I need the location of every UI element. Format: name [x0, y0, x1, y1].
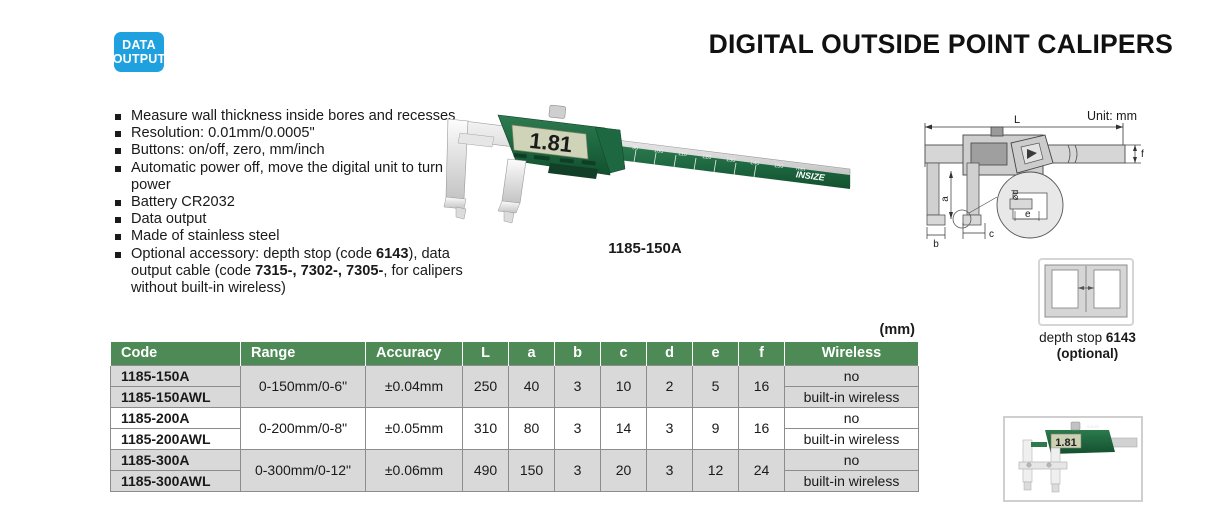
table-row: 1185-200A 0-200mm/0-8" ±0.05mm 310 80 3 …: [111, 407, 919, 428]
bullet-square-icon: [115, 131, 121, 137]
cell-d: 3: [647, 407, 693, 449]
dimension-label-b: b: [933, 239, 939, 250]
svg-text:120: 120: [702, 154, 712, 161]
data-output-badge: DATA OUTPUT: [114, 32, 164, 72]
page-title: DIGITAL OUTSIDE POINT CALIPERS: [709, 29, 1173, 60]
cell-c: 14: [601, 407, 647, 449]
column-header-l: L: [463, 342, 509, 365]
accessory-code-cables: 7315-, 7302-, 7305-: [255, 263, 383, 279]
bullet-square-icon: [115, 217, 121, 223]
cell-b: 3: [555, 365, 601, 407]
feature-text: Battery CR2032: [131, 194, 235, 210]
svg-text:150: 150: [774, 163, 784, 170]
table-row: 1185-300A 0-300mm/0-12" ±0.06mm 490 150 …: [111, 449, 919, 470]
cell-accuracy: ±0.05mm: [366, 407, 463, 449]
bullet-square-icon: [115, 166, 121, 172]
dimension-label-c: c: [989, 229, 994, 240]
svg-text:110: 110: [678, 151, 687, 158]
dimension-label-e: e: [1025, 209, 1031, 220]
depth-stop-diagram: [1038, 258, 1134, 326]
depth-stop-caption: depth stop 6143 (optional): [995, 330, 1180, 361]
feature-text: Buttons: on/off, zero, mm/inch: [131, 142, 325, 158]
feature-text: Automatic power off, move the digital un…: [131, 160, 463, 193]
cell-wireless: built-in wireless: [785, 470, 919, 491]
cell-wireless: built-in wireless: [785, 386, 919, 407]
cell-wireless: no: [785, 407, 919, 428]
cell-code: 1185-150AWL: [111, 386, 241, 407]
dimension-label-f: f: [1141, 149, 1144, 160]
spec-table: Code Range Accuracy L a b c d e f Wirele…: [110, 342, 915, 492]
cell-code: 1185-300A: [111, 449, 241, 470]
svg-text:INSIZE: INSIZE: [1087, 424, 1100, 429]
list-item: Resolution: 0.01mm/0.0005": [114, 125, 464, 142]
cell-l: 490: [463, 449, 509, 491]
dimension-label-d: ⌀d: [1010, 190, 1020, 200]
svg-text:90: 90: [632, 145, 639, 152]
cell-d: 3: [647, 449, 693, 491]
svg-text:100: 100: [654, 148, 664, 155]
unit-note: (mm): [820, 322, 915, 338]
bullet-square-icon: [115, 148, 121, 154]
cell-wireless: no: [785, 449, 919, 470]
cell-range: 0-300mm/0-12": [241, 449, 366, 491]
technical-drawing: L f: [905, 105, 1217, 253]
bullet-square-icon: [115, 234, 121, 240]
column-header-a: a: [509, 342, 555, 365]
cell-a: 150: [509, 449, 555, 491]
cell-code: 1185-150A: [111, 365, 241, 386]
column-header-e: e: [693, 342, 739, 365]
cell-a: 80: [509, 407, 555, 449]
cell-e: 12: [693, 449, 739, 491]
column-header-f: f: [739, 342, 785, 365]
list-item: Automatic power off, move the digital un…: [114, 160, 464, 194]
svg-text:1.81: 1.81: [528, 128, 573, 157]
column-header-accuracy: Accuracy: [366, 342, 463, 365]
feature-list: Measure wall thickness inside bores and …: [114, 108, 464, 297]
cell-range: 0-200mm/0-8": [241, 407, 366, 449]
cell-c: 10: [601, 365, 647, 407]
product-caption: 1185-150A: [420, 240, 870, 257]
list-item: Measure wall thickness inside bores and …: [114, 108, 464, 125]
cell-f: 24: [739, 449, 785, 491]
cell-f: 16: [739, 407, 785, 449]
product-photo-main: 80 90 100 110 120 130 140 150 mm INSIZE …: [420, 103, 870, 231]
accessory-code-depth-stop: 6143: [376, 246, 408, 262]
badge-line-1: DATA: [122, 38, 156, 52]
column-header-range: Range: [241, 342, 366, 365]
cell-code: 1185-300AWL: [111, 470, 241, 491]
column-header-code: Code: [111, 342, 241, 365]
list-item-optional-accessory: Optional accessory: depth stop (code 614…: [114, 246, 464, 298]
depth-stop-photo: 1.81 INSIZE: [1003, 416, 1143, 502]
cell-b: 3: [555, 407, 601, 449]
cell-a: 40: [509, 365, 555, 407]
table-header-row: Code Range Accuracy L a b c d e f Wirele…: [111, 342, 919, 365]
cell-d: 2: [647, 365, 693, 407]
svg-text:140: 140: [750, 160, 760, 167]
depth-stop-optional: (optional): [1057, 346, 1118, 361]
depth-stop-label: depth stop: [1039, 330, 1106, 345]
cell-c: 20: [601, 449, 647, 491]
column-header-d: d: [647, 342, 693, 365]
bullet-square-icon: [115, 252, 121, 258]
drawing-unit-label: Unit: mm: [1087, 109, 1137, 123]
feature-text: Resolution: 0.01mm/0.0005": [131, 125, 315, 141]
depth-stop-code: 6143: [1106, 330, 1136, 345]
column-header-c: c: [601, 342, 647, 365]
table-row: 1185-150A 0-150mm/0-6" ±0.04mm 250 40 3 …: [111, 365, 919, 386]
cell-accuracy: ±0.04mm: [366, 365, 463, 407]
feature-text: Data output: [131, 211, 206, 227]
list-item: Buttons: on/off, zero, mm/inch: [114, 142, 464, 159]
cell-l: 250: [463, 365, 509, 407]
cell-wireless: built-in wireless: [785, 428, 919, 449]
cell-wireless: no: [785, 365, 919, 386]
cell-e: 5: [693, 365, 739, 407]
column-header-b: b: [555, 342, 601, 365]
badge-line-2: OUTPUT: [113, 52, 166, 66]
list-item: Data output: [114, 211, 464, 228]
cell-range: 0-150mm/0-6": [241, 365, 366, 407]
catalog-page: DATA OUTPUT DIGITAL OUTSIDE POINT CALIPE…: [0, 0, 1219, 531]
feature-text: Made of stainless steel: [131, 228, 279, 244]
dimension-label-L: L: [1014, 114, 1020, 126]
feature-text: Measure wall thickness inside bores and …: [131, 108, 455, 124]
dimension-label-a: a: [940, 196, 951, 202]
cell-accuracy: ±0.06mm: [366, 449, 463, 491]
svg-text:130: 130: [726, 157, 736, 164]
cell-f: 16: [739, 365, 785, 407]
cell-code: 1185-200A: [111, 407, 241, 428]
list-item: Battery CR2032: [114, 194, 464, 211]
bullet-square-icon: [115, 200, 121, 206]
cell-e: 9: [693, 407, 739, 449]
cell-b: 3: [555, 449, 601, 491]
list-item: Made of stainless steel: [114, 228, 464, 245]
column-header-wireless: Wireless: [785, 342, 919, 365]
cell-code: 1185-200AWL: [111, 428, 241, 449]
bullet-square-icon: [115, 114, 121, 120]
accessory-prefix: Optional accessory: depth stop (code: [131, 246, 376, 262]
svg-text:1.81: 1.81: [1055, 437, 1076, 449]
cell-l: 310: [463, 407, 509, 449]
